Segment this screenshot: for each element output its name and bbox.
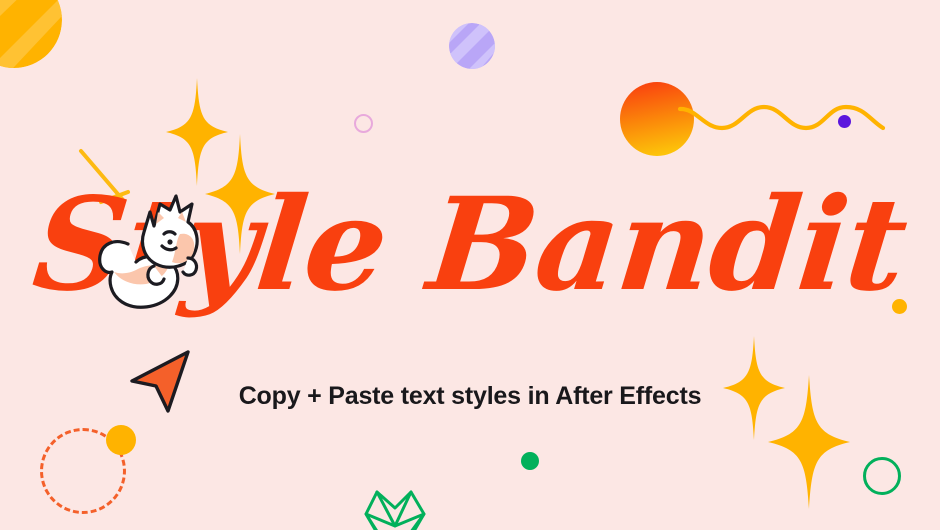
green-star-outline-bottom [340,482,450,530]
fox-mascot [84,182,224,314]
green-dot [521,452,539,470]
purple-striped-circle [449,23,495,69]
purple-dot [838,115,851,128]
wavy-line [678,94,888,142]
amber-dot-on-dashed-circle [106,425,136,455]
poster-canvas: Style Bandit Copy + Paste text styles in… [0,0,940,530]
page-subtitle: Copy + Paste text styles in After Effect… [239,380,702,412]
pink-circle-outline [354,114,373,133]
green-circle-outline [863,457,901,495]
amber-striped-circle [0,0,62,68]
orange-cursor-arrow [126,348,200,416]
